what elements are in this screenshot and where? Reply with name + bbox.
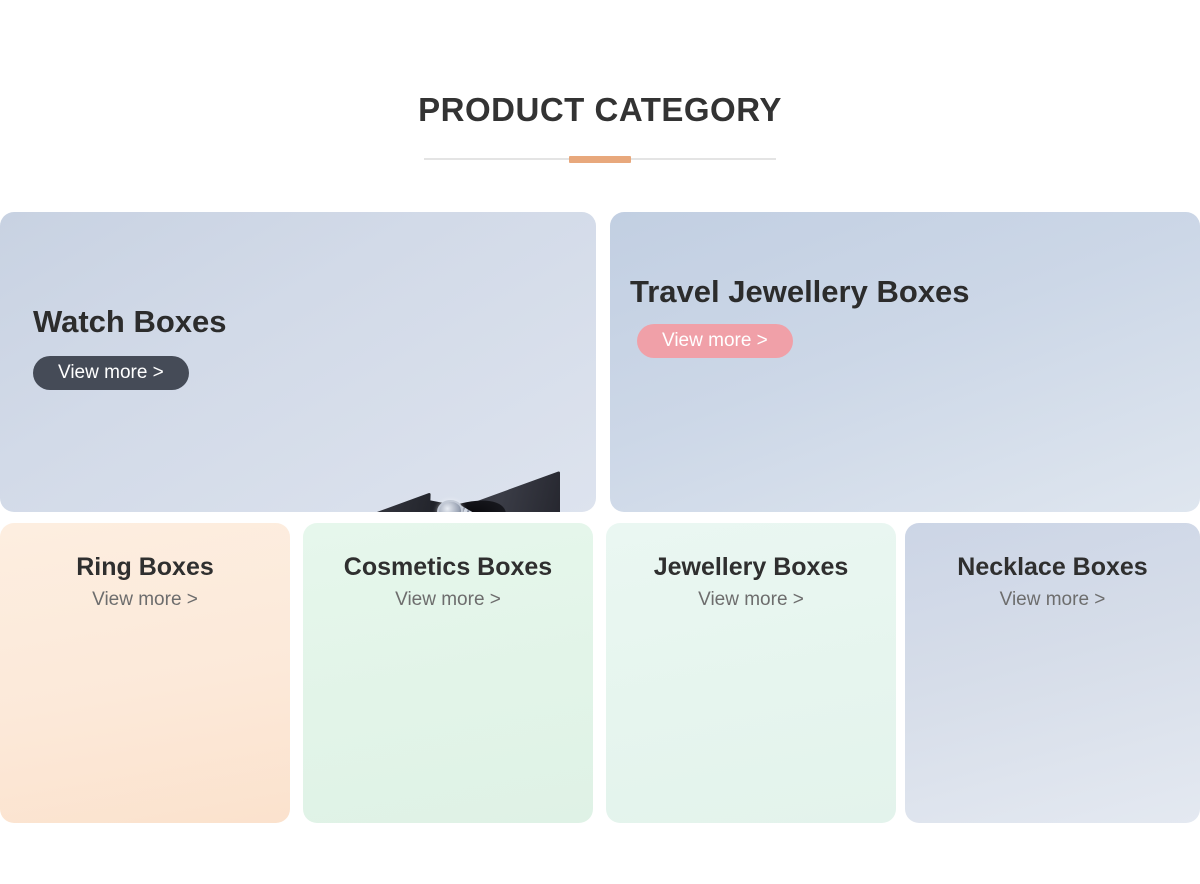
watch-boxes-text-block: Watch Boxes View more >: [33, 305, 227, 390]
travel-jewellery-boxes-text-block: Travel Jewellery Boxes View more >: [630, 275, 970, 358]
travel-jewellery-boxes-title: Travel Jewellery Boxes: [630, 275, 970, 309]
category-card-cosmetics-boxes[interactable]: Cosmetics Boxes View more >: [303, 523, 593, 823]
ring-boxes-title: Ring Boxes: [0, 553, 290, 582]
category-grid: Watch Boxes View more >: [0, 0, 1200, 884]
necklace-boxes-view-more-link[interactable]: View more >: [1000, 589, 1106, 611]
cosmetics-boxes-view-more-link[interactable]: View more >: [395, 589, 501, 611]
travel-jewellery-boxes-view-more-button[interactable]: View more >: [637, 324, 793, 358]
jewellery-boxes-title: Jewellery Boxes: [606, 553, 896, 582]
jewellery-boxes-view-more-link[interactable]: View more >: [698, 589, 804, 611]
cosmetics-boxes-text-block: Cosmetics Boxes View more >: [303, 553, 593, 611]
category-card-ring-boxes[interactable]: Ring Boxes View more >: [0, 523, 290, 823]
product-category-page: PRODUCT CATEGORY Watch Box: [0, 0, 1200, 884]
watch-boxes-title: Watch Boxes: [33, 305, 227, 339]
necklace-boxes-title: Necklace Boxes: [905, 553, 1200, 582]
watch-boxes-view-more-button[interactable]: View more >: [33, 356, 189, 390]
category-card-travel-jewellery-boxes[interactable]: [610, 212, 1200, 512]
travel-jewellery-boxes-product-image: [610, 212, 1200, 512]
ring-boxes-text-block: Ring Boxes View more >: [0, 553, 290, 611]
necklace-boxes-text-block: Necklace Boxes View more >: [905, 553, 1200, 611]
category-card-jewellery-boxes[interactable]: Jewellery Boxes View more >: [606, 523, 896, 823]
ring-boxes-view-more-link[interactable]: View more >: [92, 589, 198, 611]
jewellery-boxes-text-block: Jewellery Boxes View more >: [606, 553, 896, 611]
category-card-necklace-boxes[interactable]: Necklace Boxes View more >: [905, 523, 1200, 823]
cosmetics-boxes-title: Cosmetics Boxes: [303, 553, 593, 582]
